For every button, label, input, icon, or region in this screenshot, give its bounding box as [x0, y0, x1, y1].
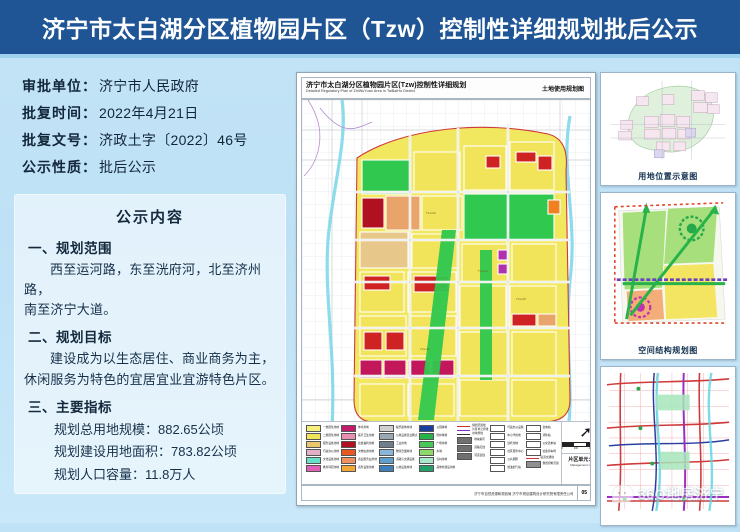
- legend-swatch: [341, 465, 356, 472]
- legend-label: 轨道交通线: [541, 457, 554, 460]
- legend-swatch: [306, 449, 321, 456]
- indicator-item: 规划建设用地面积：783.82公顷: [54, 441, 276, 464]
- location-diagram-graphic: [601, 73, 735, 164]
- legend-label: 水域: [436, 451, 441, 454]
- legend-item: 商务设施用地: [341, 465, 377, 472]
- legend-swatch: [490, 457, 505, 464]
- legend-swatch: [379, 449, 394, 456]
- meta-row: 审批单位： 济宁市人民政府: [22, 76, 282, 96]
- legend-swatch: [457, 437, 472, 444]
- legend-column: 行政办公设施中小学用地幼托用地社区服务中心公共厕所加油加气站: [490, 425, 523, 482]
- thumbnail-caption: 用地位置示意图: [601, 169, 735, 185]
- legend-column: 娱乐康体用地公用设施营业网点工业用地物流仓储用地道路与交通设施公用设施用地: [379, 425, 418, 482]
- legend-item: 道路与交通设施: [379, 457, 418, 464]
- legend-swatch: [306, 465, 321, 472]
- legend-swatch: [457, 445, 472, 452]
- legend-columns: 一类居住用地二类居住用地服务设施用地行政办公用地文化设施用地教育科研用地体育用地…: [302, 422, 561, 484]
- legend-swatch: [341, 457, 356, 464]
- legend-swatch: [457, 434, 470, 435]
- page-root: 济宁市太白湖分区植物园片区（Tzw）控制性详细规划批后公示 审批单位： 济宁市人…: [0, 0, 740, 523]
- watermark-text: 36O地房济宁: [638, 484, 724, 504]
- legend-item: 公交首末站: [526, 441, 559, 448]
- section-paragraph: 休闲服务为特色的宜居宜业宜游特色片区。: [24, 370, 276, 390]
- north-and-scale-panel: ➚ 0 200 400 800m 片区单元：Tzw Management Uni…: [561, 422, 591, 484]
- legend-column: 公园绿地防护绿地广场用地水域农林用地其他非建设用地: [419, 425, 455, 482]
- scale-label: 200: [574, 447, 578, 450]
- approval-meta: 审批单位： 济宁市人民政府 批复时间： 2022年4月21日 批复文号： 济政土…: [14, 66, 286, 188]
- legend-item: 道路红线: [457, 445, 488, 452]
- legend-label: 中小学用地: [507, 435, 520, 438]
- legend-column: 规划范围线片区单元界线用地界线地块编号道路红线河道蓝线: [457, 425, 488, 482]
- legend-label: 河道蓝线: [474, 455, 485, 458]
- map-footer-text: 济宁市自然资源和规划局 济宁市规划建筑设计研究院有限责任公司: [474, 491, 577, 496]
- legend-label: 工业用地: [396, 443, 407, 446]
- legend-swatch: [526, 433, 541, 440]
- legend-swatch: [341, 425, 356, 432]
- legend-item: 中小学用地: [490, 433, 523, 440]
- legend-label: 公园绿地: [436, 427, 447, 430]
- legend-item: 地块编号: [457, 437, 488, 444]
- legend-label: 幼托用地: [507, 443, 518, 446]
- legend-column: 体育用地医疗卫生用地社会福利用地文物古迹用地商业服务业用地商务设施用地: [341, 425, 377, 482]
- legend-item: 服务设施用地: [306, 441, 339, 448]
- legend-item: 公共厕所: [490, 457, 523, 464]
- legend-swatch: [490, 425, 505, 432]
- legend-swatch: [419, 457, 434, 464]
- meta-row: 批复时间： 2022年4月21日: [22, 103, 282, 123]
- legend-swatch: [526, 461, 541, 468]
- legend-swatch: [306, 441, 321, 448]
- legend-label: 娱乐康体用地: [396, 427, 412, 430]
- legend-swatch: [490, 449, 505, 456]
- section-indicators: 三、主要指标 规划总用地规模：882.65公顷 规划建设用地面积：783.82公…: [24, 396, 276, 487]
- legend-item: 幼托用地: [490, 441, 523, 448]
- legend-item: 公用设施营业网点: [379, 433, 418, 440]
- section-heading: 二、规划目标: [28, 326, 276, 346]
- legend-item: 工业用地: [379, 441, 418, 448]
- legend-swatch: [419, 465, 434, 472]
- legend-label: 服务设施用地: [323, 443, 339, 446]
- legend-item: 规划控制范围: [526, 461, 559, 468]
- watermark: 36O地房济宁: [612, 484, 724, 504]
- thumbnail-location-diagram[interactable]: 用地位置示意图: [600, 72, 736, 186]
- legend-label: 教育科研用地: [323, 467, 339, 470]
- map-title-en: Detailed Regulatory Plan of ZhiWuYuan Ar…: [306, 90, 466, 94]
- legend-label: 物流仓储用地: [396, 451, 412, 454]
- legend-label: 其他非建设用地: [436, 467, 455, 470]
- legend-swatch: [419, 433, 434, 440]
- legend-swatch: [526, 425, 541, 432]
- legend-swatch: [490, 441, 505, 448]
- header-underline: [0, 54, 740, 58]
- scale-bar: 0 200 400 800m: [562, 442, 591, 450]
- legend-swatch: [457, 453, 472, 460]
- main-map-sheet[interactable]: 济宁市太白湖分区植物园片区(Tzw)控制性详细规划 Detailed Regul…: [296, 72, 596, 506]
- legend-label: 文物古迹用地: [358, 451, 374, 454]
- management-unit-en: Management Unit: Tzw: [562, 463, 591, 467]
- legend-swatch: [341, 433, 356, 440]
- legend-swatch: [379, 425, 394, 432]
- section-scope: 一、规划范围 西至运河路，东至洸府河，北至济州路， 南至济宁大道。: [24, 237, 276, 320]
- meta-label: 审批单位：: [22, 76, 97, 96]
- legend-swatch: [490, 433, 505, 440]
- legend-label: 商务设施用地: [358, 467, 374, 470]
- legend-label: 社会停车场: [543, 451, 556, 454]
- map-sheet-label: 土地使用规划图: [542, 84, 590, 93]
- section-paragraph: 南至济宁大道。: [24, 300, 276, 320]
- legend-label: 公交首末站: [543, 443, 556, 446]
- legend-swatch: [379, 441, 394, 448]
- legend-label: 公用设施营业网点: [396, 435, 418, 438]
- legend-label: 公共厕所: [507, 459, 518, 462]
- legend-item: 商业服务业用地: [341, 457, 377, 464]
- legend-item: 娱乐康体用地: [379, 425, 418, 432]
- legend-label: 行政办公用地: [323, 451, 339, 454]
- wechat-bubble-icon: [612, 485, 634, 503]
- map-footer: 济宁市自然资源和规划局 济宁市规划建筑设计研究院有限责任公司 05: [301, 485, 591, 501]
- legend-label: 社会福利用地: [358, 443, 374, 446]
- indicator-item: 规划人口容量：11.8万人: [54, 464, 276, 487]
- meta-value: 济宁市人民政府: [99, 76, 199, 96]
- legend-label: 二类居住用地: [323, 435, 339, 438]
- scale-label: 0: [562, 447, 563, 450]
- content-box-title: 公示内容: [24, 206, 276, 227]
- map-legend: 一类居住用地二类居住用地服务设施用地行政办公用地文化设施用地教育科研用地体育用地…: [302, 421, 590, 484]
- legend-label: 消防站: [543, 435, 551, 438]
- svg-text:Tzw-04: Tzw-04: [478, 269, 488, 273]
- legend-item: 行政办公用地: [306, 449, 339, 456]
- legend-item: 体育用地: [341, 425, 377, 432]
- left-column: 审批单位： 济宁市人民政府 批复时间： 2022年4月21日 批复文号： 济政土…: [14, 66, 286, 506]
- legend-item: 其他非建设用地: [419, 465, 455, 472]
- scale-label: 400: [589, 447, 591, 450]
- legend-item: 社会福利用地: [341, 441, 377, 448]
- legend-item: 社区服务中心: [490, 449, 523, 456]
- announcement-content-box: 公示内容 一、规划范围 西至运河路，东至洸府河，北至济州路， 南至济宁大道。 二…: [14, 194, 286, 494]
- page-title: 济宁市太白湖分区植物园片区（Tzw）控制性详细规划批后公示: [42, 10, 698, 44]
- legend-item: 行政办公设施: [490, 425, 523, 432]
- meta-label: 批复文号：: [22, 130, 97, 150]
- legend-item: 农林用地: [419, 457, 455, 464]
- meta-value: 2022年4月21日: [99, 103, 199, 123]
- meta-row: 公示性质： 批后公示: [22, 157, 282, 177]
- map-canvas[interactable]: Tzw-02 Tzw-04 Tzw-06 Tzw-05 一类居住用地二类居住用地…: [301, 99, 591, 485]
- legend-label: 用地界线: [472, 433, 483, 436]
- management-unit-cn: 片区单元：Tzw: [562, 456, 591, 463]
- legend-label: 农林用地: [436, 459, 447, 462]
- legend-label: 一类居住用地: [323, 427, 339, 430]
- thumbnail-spatial-structure[interactable]: 空间结构规划图: [600, 192, 736, 361]
- thumbnail-column: 用地位置示意图: [600, 72, 736, 532]
- legend-item: 消防站: [526, 433, 559, 440]
- legend-swatch: [419, 449, 434, 456]
- meta-label: 公示性质：: [22, 157, 97, 177]
- legend-swatch: [306, 425, 321, 432]
- legend-item: 社会停车场: [526, 449, 559, 456]
- legend-label: 变电站: [543, 427, 551, 430]
- section-paragraph: 西至运河路，东至洸府河，北至济州路，: [24, 260, 276, 300]
- legend-item: 文物古迹用地: [341, 449, 377, 456]
- legend-swatch: [379, 433, 394, 440]
- legend-label: 道路与交通设施: [396, 459, 415, 462]
- legend-label: 规划控制范围: [543, 463, 559, 466]
- legend-swatch: [379, 457, 394, 464]
- meta-value: 济政土字〔2022〕46号: [99, 130, 248, 150]
- indicator-item: 规划总用地规模：882.65公顷: [54, 419, 276, 442]
- legend-label: 地块编号: [474, 439, 485, 442]
- legend-label: 行政办公设施: [507, 427, 523, 430]
- legend-swatch: [341, 449, 356, 456]
- legend-swatch: [490, 465, 505, 472]
- legend-swatch: [419, 425, 434, 432]
- spatial-structure-graphic: [601, 193, 735, 339]
- section-paragraph: 建设成为以生态居住、商业商务为主，: [24, 349, 276, 369]
- legend-item: 公园绿地: [419, 425, 455, 432]
- legend-swatch: [419, 441, 434, 448]
- page-header: 济宁市太白湖分区植物园片区（Tzw）控制性详细规划批后公示: [0, 0, 740, 54]
- legend-swatch: [341, 441, 356, 448]
- section-heading: 三、主要指标: [28, 396, 276, 416]
- svg-text:Tzw-02: Tzw-02: [426, 211, 436, 215]
- legend-swatch: [526, 441, 541, 448]
- legend-label: 体育用地: [358, 427, 369, 430]
- legend-label: 商业服务业用地: [358, 459, 377, 462]
- meta-label: 批复时间：: [22, 103, 97, 123]
- map-title-bar: 济宁市太白湖分区植物园片区(Tzw)控制性详细规划 Detailed Regul…: [301, 77, 591, 99]
- legend-item: 水域: [419, 449, 455, 456]
- meta-row: 批复文号： 济政土字〔2022〕46号: [22, 130, 282, 150]
- legend-item: 物流仓储用地: [379, 449, 418, 456]
- legend-swatch: [457, 430, 470, 431]
- legend-item: 公用设施用地: [379, 465, 418, 472]
- north-arrow-icon: ➚: [579, 425, 591, 440]
- legend-item: 河道蓝线: [457, 453, 488, 460]
- legend-label: 医疗卫生用地: [358, 435, 374, 438]
- section-heading: 一、规划范围: [28, 237, 276, 257]
- legend-label: 加油加气站: [507, 467, 520, 470]
- legend-label: 道路红线: [474, 447, 485, 450]
- svg-text:Tzw-06: Tzw-06: [420, 347, 430, 351]
- legend-item: 广场用地: [419, 441, 455, 448]
- legend-item: 变电站: [526, 425, 559, 432]
- section-goal: 二、规划目标 建设成为以生态居住、商业商务为主， 休闲服务为特色的宜居宜业宜游特…: [24, 326, 276, 389]
- legend-item: 用地界线: [457, 433, 488, 436]
- legend-item: 二类居住用地: [306, 433, 339, 440]
- legend-label: 公用设施用地: [396, 467, 412, 470]
- legend-swatch: [526, 458, 539, 459]
- legend-item: 防护绿地: [419, 433, 455, 440]
- legend-label: 防护绿地: [436, 435, 447, 438]
- legend-label: 文化设施用地: [323, 459, 339, 462]
- map-title-cn: 济宁市太白湖分区植物园片区(Tzw)控制性详细规划: [306, 82, 466, 89]
- legend-column: 一类居住用地二类居住用地服务设施用地行政办公用地文化设施用地教育科研用地: [306, 425, 339, 482]
- svg-text:Tzw-05: Tzw-05: [516, 297, 526, 301]
- legend-column: 变电站消防站公交首末站社会停车场轨道交通线规划控制范围: [526, 425, 559, 482]
- thumbnail-caption: 空间结构规划图: [601, 343, 735, 359]
- legend-label: 社区服务中心: [507, 451, 523, 454]
- legend-swatch: [306, 457, 321, 464]
- legend-item: 文化设施用地: [306, 457, 339, 464]
- legend-swatch: [457, 426, 470, 427]
- legend-swatch: [306, 433, 321, 440]
- legend-item: 一类居住用地: [306, 425, 339, 432]
- legend-item: 轨道交通线: [526, 457, 559, 460]
- sheet-number: 05: [577, 486, 590, 500]
- legend-item: 加油加气站: [490, 465, 523, 472]
- legend-swatch: [526, 449, 541, 456]
- legend-swatch: [379, 465, 394, 472]
- meta-value: 批后公示: [99, 157, 156, 177]
- legend-item: 教育科研用地: [306, 465, 339, 472]
- legend-label: 广场用地: [436, 443, 447, 446]
- legend-item: 医疗卫生用地: [341, 433, 377, 440]
